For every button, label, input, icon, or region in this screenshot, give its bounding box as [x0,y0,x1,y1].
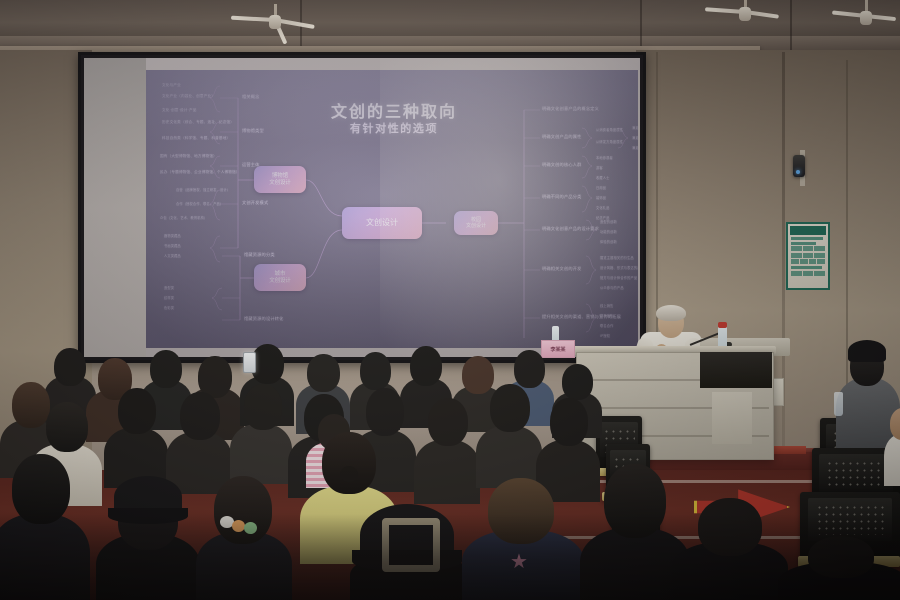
attendee [884,404,900,484]
attendee-head [428,398,468,446]
attendee-head [244,384,282,430]
attendee-torso [0,514,90,600]
sign-cell [791,253,802,258]
branch-label: 馆藏资源的分类 [244,252,275,258]
sign-cell [791,271,802,276]
leaf-text: 人文类藏品 [164,254,181,259]
status-led [796,170,800,174]
branch-label: 明确相关文创的开发 [542,266,582,272]
leaf-text: 民办（专题博物馆、企业博物馆、个人博物馆） [160,170,240,175]
sign-row [791,271,825,276]
leaf-text: 本地参观者 [596,156,613,161]
attendee [104,386,168,482]
leaf-text: 从研发方角度属性 [596,140,623,145]
leaf-text: 合作（授权合作、联名、产品） [176,202,223,207]
mindmap-node-museum: 博物馆 文创设计 [254,166,306,193]
screen-unlit-margin [84,58,146,357]
leaf-text: 体验的创新 [600,240,617,245]
node-line-2: 文创设计 [269,278,291,285]
leaf-text: 设计风格、形式与表达的产品 [600,266,638,271]
leaf-text: 书画类藏品 [164,244,181,249]
attendee-head [12,454,70,524]
sign-line [791,266,822,269]
seat-perforation [816,504,884,535]
sign-cell [809,259,817,264]
leaf-text: 馆方与设计师合作的产品 [600,276,637,281]
mindmap-node-city: 城市 文创设计 [254,264,306,291]
attendee-head [307,354,340,392]
leaf-text: 装饰品 [596,196,606,201]
branch-label: 馆藏资源的设计转化 [244,316,284,322]
leaf-text: 展览主题相关的衍生品 [600,256,634,261]
attendee-head [488,478,554,544]
attendee-head [808,536,874,578]
branch-label: 文创开发模式 [242,200,268,206]
attendee-head [562,364,593,400]
slide-subtitle: 有针对性的选项 [264,120,524,136]
safety-notice-sign [786,222,830,290]
leaf-text: 历史文化类（综合、专题、遗址、纪念馆） [162,120,234,125]
attendee-head [214,476,272,544]
sign-cell [814,271,825,276]
attendee-head [360,352,391,390]
leaf-text: 科技自然类（科学馆、专题、科普基地） [162,136,230,141]
branch-label: 明确文化创意产品的概念定义 [542,106,599,112]
attendee [96,476,200,600]
sign-line [791,237,823,240]
sign-cell [817,259,825,264]
projected-slide: 文创的三种取向 有针对性的选项 文创设计 博物馆 文创设计 城市 文创设计 校园… [146,70,638,348]
attendee-head [150,350,182,388]
leaf-text: 游客 [596,166,603,171]
sign-cell [791,259,799,264]
attendee [196,470,292,600]
leaf-text: 功能的创新 [600,230,617,235]
sign-cell [803,271,814,276]
node-line-2: 文创设计 [466,223,486,229]
slide-title: 文创的三种取向 [264,98,524,122]
attendee-head [490,384,530,432]
branch-label: 明确文创的核心人群 [542,162,582,168]
branch-label: 明确不同的产品分类 [542,194,582,200]
water-bottle [834,392,843,416]
leaf-text: 器物类藏品 [164,234,181,239]
sign-row [791,246,825,251]
attendee [672,498,788,600]
leaf-text: 从消费者角度属性 [596,128,623,133]
ceiling-seam [790,0,792,50]
mindmap-center-node: 文创设计 [342,207,422,239]
leaf-text: 国有（大型博物馆、地方博物馆） [160,154,217,159]
branch-label: 运营主体 [242,162,260,168]
projection-screen: 文创的三种取向 有针对性的选项 文创设计 博物馆 文创设计 城市 文创设计 校园… [78,52,646,363]
sign-line [791,242,816,245]
attendee-head [118,388,156,434]
screen-surface: 文创的三种取向 有针对性的选项 文创设计 博物馆 文创设计 城市 文创设计 校园… [84,58,640,357]
attendee-head [550,398,588,446]
leaf-text: 满足审美需求 [632,146,638,151]
sign-cell [800,259,808,264]
leaf-text: 公众参与的产品 [600,286,624,291]
attendee [476,382,542,482]
smartphone [243,352,256,373]
leaf-text: 文化礼品 [596,206,610,211]
attendee [0,452,90,600]
attendee [350,504,470,600]
shirt-star-logo-icon: ★ [510,552,528,572]
cap-brim [108,508,188,524]
attendee [778,536,900,600]
presenter-hair [656,305,686,321]
leaf-text: 纹样类 [164,296,174,301]
sign-row [791,259,825,264]
attendee-head [698,498,762,556]
branch-label: 明确文创产品的属性 [542,134,582,140]
leaf-text: 文化与产业 [162,83,181,88]
attendee [230,382,292,478]
leaf-text: 众包（文化、艺术、教育机构） [160,216,207,221]
attendee-head [180,392,220,440]
leaf-text: 满足艺术需求 [632,136,638,141]
attendee: ★ [462,478,584,600]
hair-bun [340,466,358,482]
leaf-text: 线下销售 [600,314,614,319]
node-line-2: 文创设计 [269,180,291,187]
leaf-text: IP授权 [600,334,610,339]
leaf-text: 日用品 [596,186,606,191]
sign-row [791,253,825,258]
ceiling-seam [640,0,642,50]
branch-label: 相关概念 [242,94,260,100]
sign-cell [803,253,814,258]
leaf-text: 线上销售 [600,304,614,309]
leaf-text: 造型的创新 [600,220,617,225]
bottle-cap [718,322,727,328]
wall-panel-edge [656,52,658,352]
podium-equipment-bay [700,352,772,388]
sign-cell [814,246,825,251]
leaf-text: 自营（品牌授权、独立研发、设计） [176,188,230,193]
node-line-1: 城市 [275,271,286,278]
attendee-head [410,346,442,386]
attendee-head [46,402,88,452]
branch-label: 明确文化创意产品的设计要求 [542,226,599,232]
attendee-cap [848,340,886,362]
branch-label: 博物馆类型 [242,128,264,134]
seat-perforation [826,460,886,487]
podium-lower-shelf [712,392,752,444]
cap-logo [382,518,440,572]
leaf-text: 满足文化需求 [632,126,638,131]
leaf-text: 文化·创意·设计·产品 [162,108,197,113]
lecture-hall-photo: 文创的三种取向 有针对性的选项 文创设计 博物馆 文创设计 城市 文创设计 校园… [0,0,900,600]
leaf-text: 收藏人士 [596,176,610,181]
sign-cell [791,246,802,251]
attendee-head [322,432,376,494]
attendee-head [890,408,900,440]
hair-clip [232,520,245,532]
attendee-head [604,464,666,538]
leaf-text: 文化产业（内容业、创意产业） [162,94,215,99]
leaf-text: 造型类 [164,286,174,291]
mindmap-node-campus: 校园 文创设计 [454,211,498,235]
sign-header [790,226,826,235]
hair-clip [244,522,257,534]
sign-cell [803,246,814,251]
wall-speaker-icon [793,155,805,177]
ceiling-seam [300,0,302,50]
attendee-head [366,388,404,436]
leaf-text: 色彩类 [164,306,174,311]
leaf-text: 联名合作 [600,324,614,329]
sign-cell [814,253,825,258]
attendee-torso [884,434,900,486]
node-line-1: 博物馆 [272,173,288,180]
